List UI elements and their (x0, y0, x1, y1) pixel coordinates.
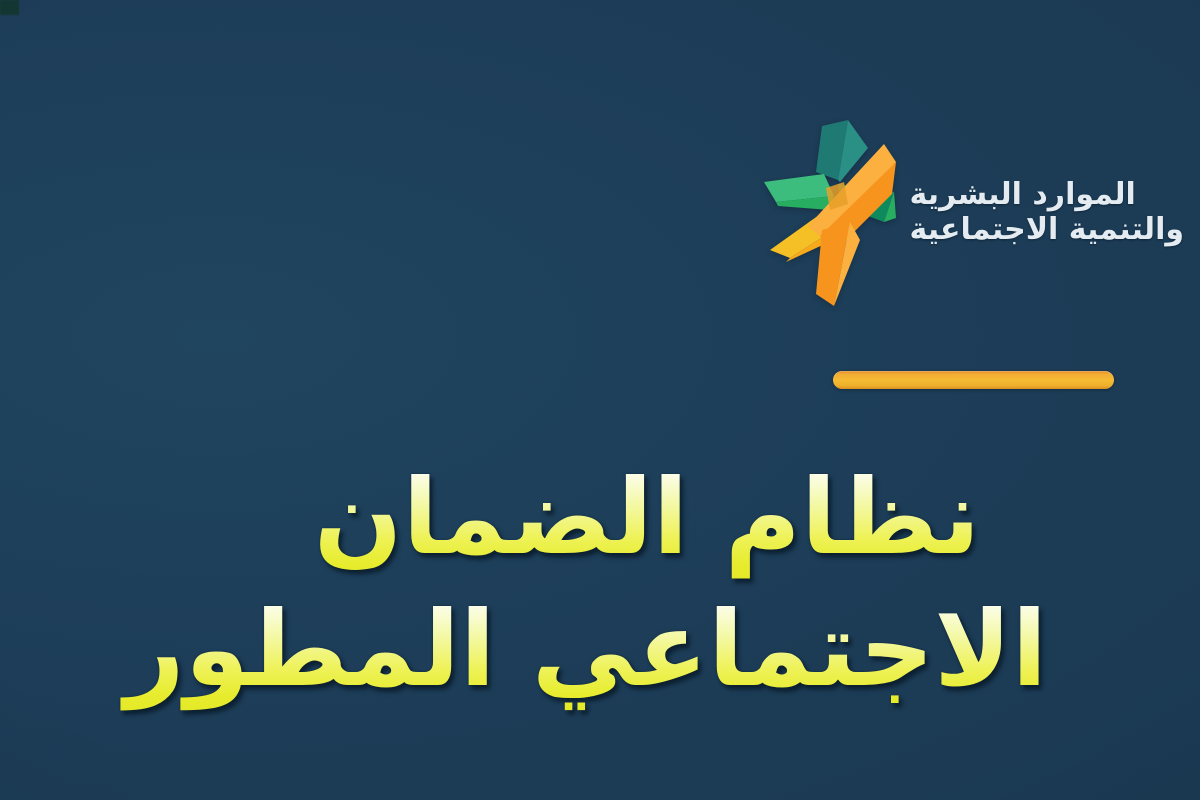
page-title-line-1: نظام الضمان (127, 446, 1167, 590)
ministry-logo-line-1: الموارد البشرية (910, 178, 1136, 212)
star-burst-icon (764, 118, 896, 308)
orange-divider-bar (833, 371, 1114, 389)
ministry-logo-line-2: والتنمية الاجتماعية (910, 213, 1184, 247)
corner-patch-decoration (0, 0, 19, 15)
page-title: نظام الضمان الاجتماعي المطور (0, 446, 1200, 721)
ministry-logo-wordmark: الموارد البشرية والتنمية الاجتماعية (910, 178, 1184, 248)
page-title-line-2: الاجتماعي المطور (66, 578, 1106, 722)
promo-banner: الموارد البشرية والتنمية الاجتماعية (0, 0, 1200, 800)
ministry-logo: الموارد البشرية والتنمية الاجتماعية (764, 118, 1184, 308)
